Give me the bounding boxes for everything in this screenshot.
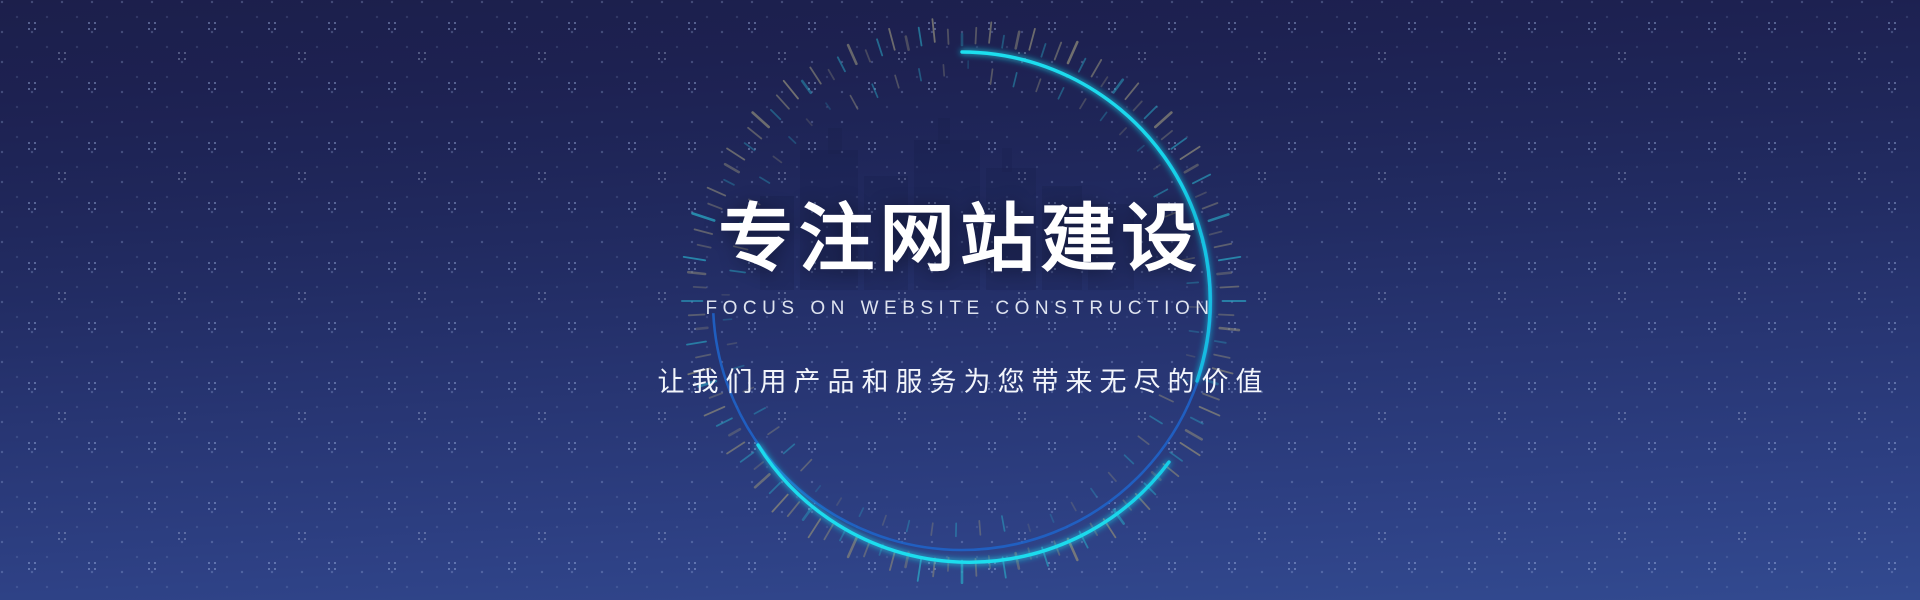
hero-subtitle: FOCUS ON WEBSITE CONSTRUCTION [706, 298, 1215, 320]
page-title: 专注网站建设 [718, 202, 1201, 276]
hero-copy: 专注网站建设 FOCUS ON WEBSITE CONSTRUCTION 让我们… [0, 0, 1920, 600]
hero-banner: 专注网站建设 FOCUS ON WEBSITE CONSTRUCTION 让我们… [0, 0, 1920, 600]
hero-tagline: 让我们用产品和服务为您带来无尽的价值 [651, 360, 1270, 399]
